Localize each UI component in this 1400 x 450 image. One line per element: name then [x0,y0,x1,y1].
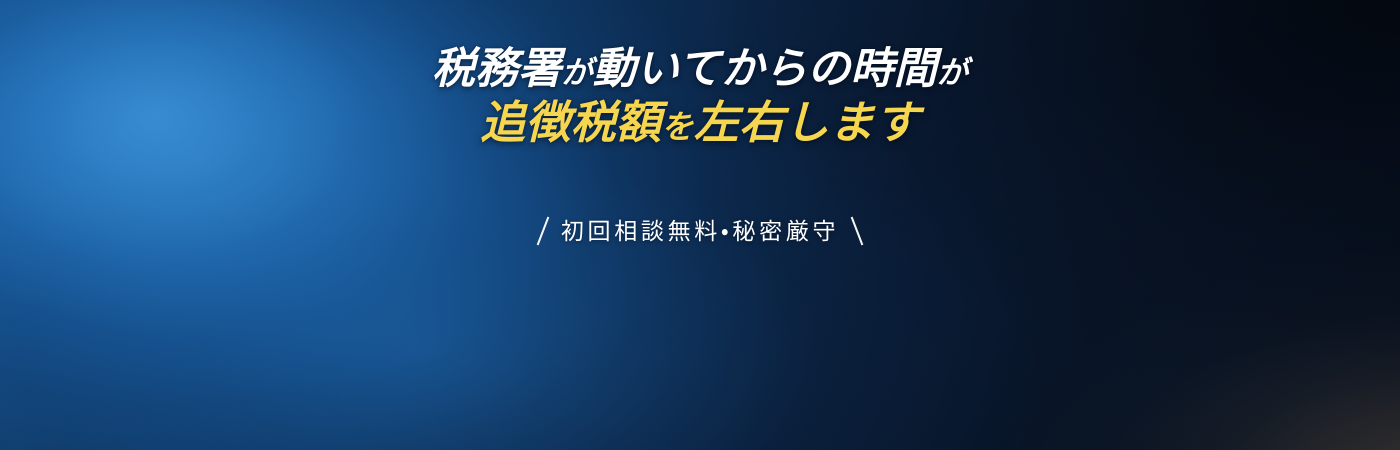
headline-line-1-particle-2: が [937,55,968,90]
left-slash-decoration [537,217,550,246]
headline-line-2-part-2: 左右します [694,97,920,148]
hero-banner: 税務署が動いてからの時間が 追徴税額を左右します 初回相談無料・秘密厳守 [0,0,1400,450]
headline-line-2: 追徴税額を左右します [0,100,1400,145]
subtitle-text: 初回相談無料・秘密厳守 [561,212,839,246]
headline-line-1-part-1: 税務署 [432,45,562,93]
right-slash-decoration [851,217,864,246]
headline-block: 税務署が動いてからの時間が 追徴税額を左右します [0,48,1400,145]
headline-line-1-particle-1: が [561,55,592,90]
headline-line-2-particle-1: を [661,109,694,145]
subtitle-block: 初回相談無料・秘密厳守 [0,212,1400,246]
headline-line-1: 税務署が動いてからの時間が [0,48,1400,91]
headline-line-1-part-2: 動いてからの時間 [593,45,937,93]
hero-content: 税務署が動いてからの時間が 追徴税額を左右します 初回相談無料・秘密厳守 [0,0,1400,450]
headline-line-2-part-1: 追徴税額 [480,97,661,148]
